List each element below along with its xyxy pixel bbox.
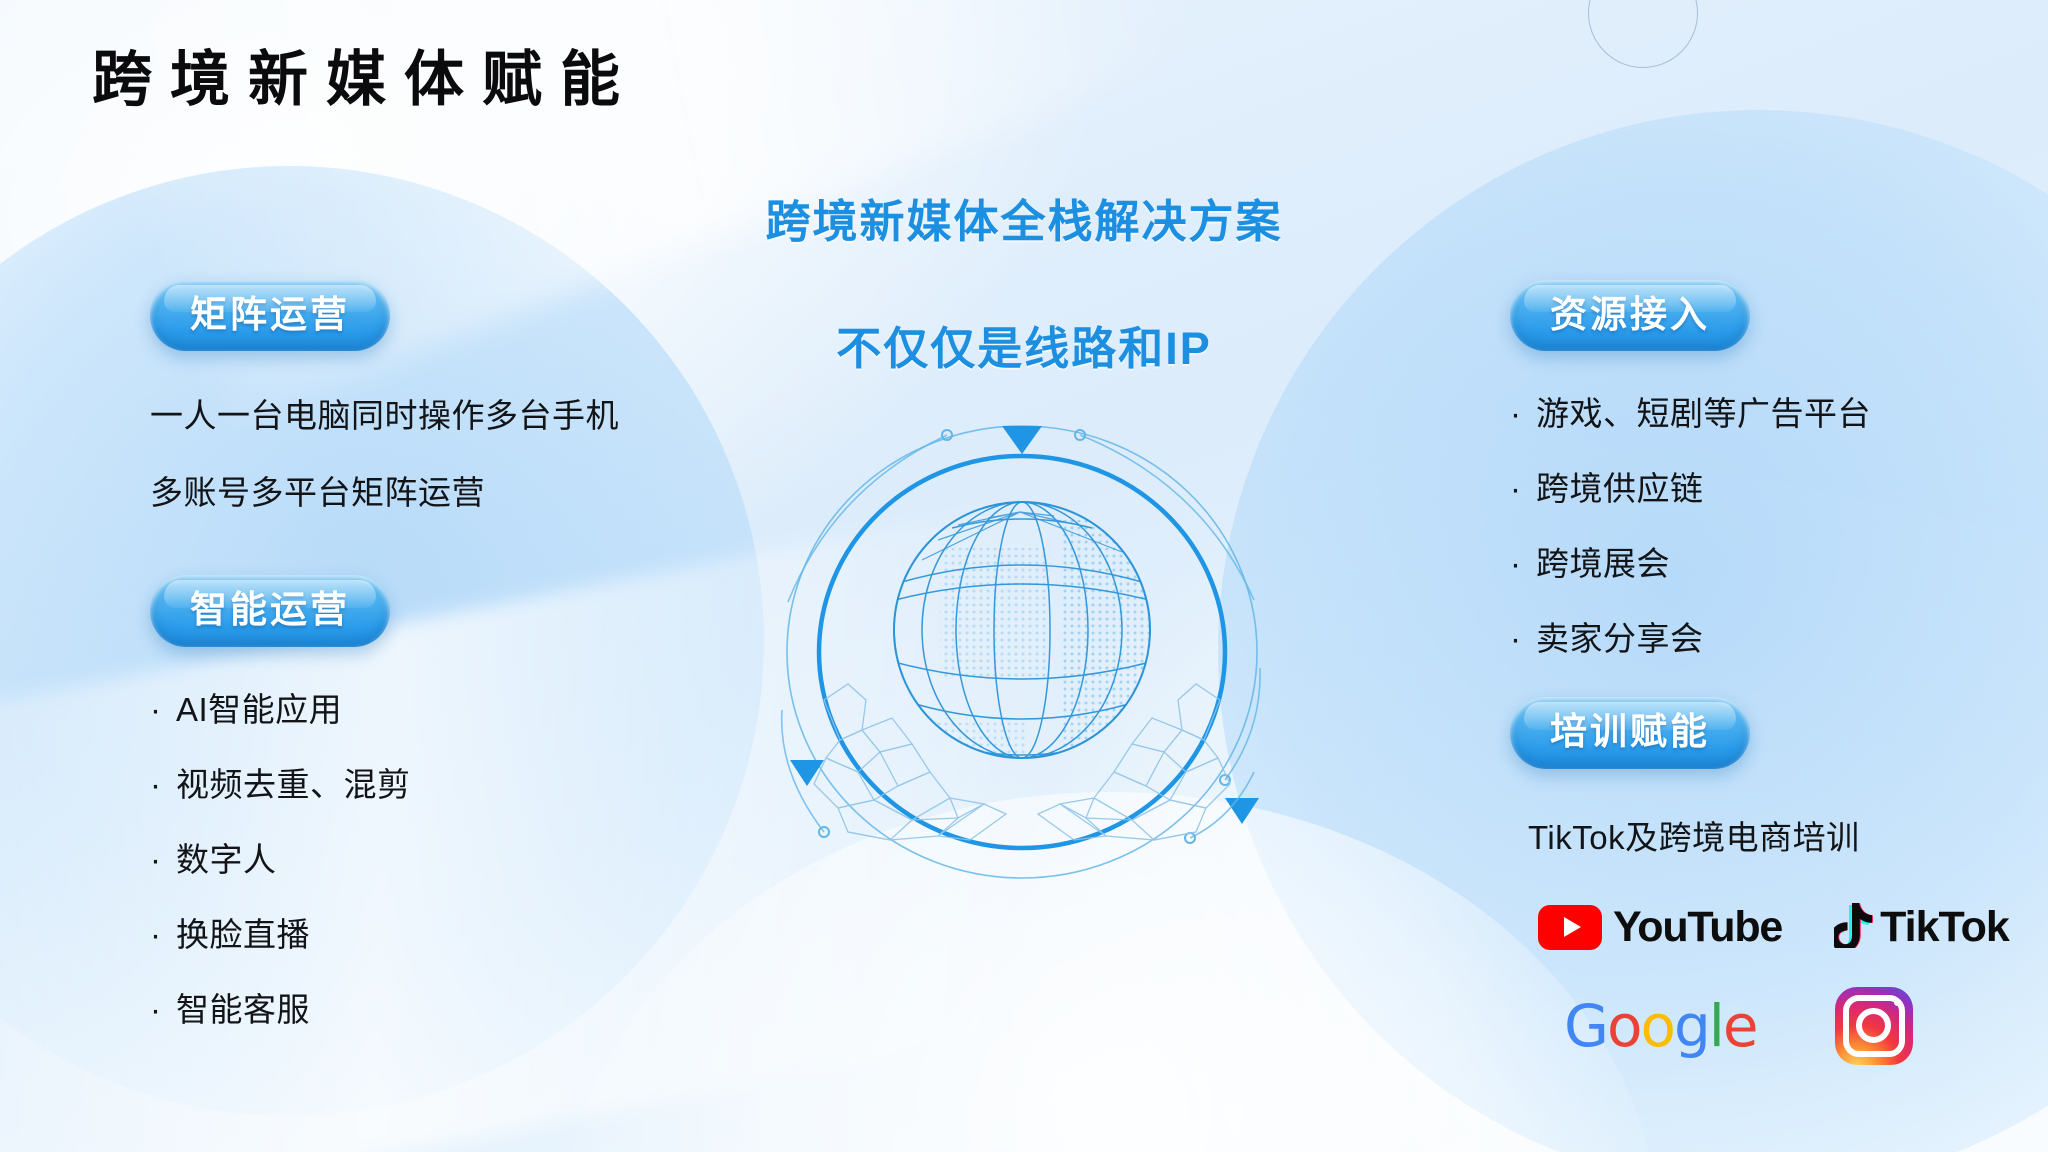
decorative-circle-outline-icon bbox=[1588, 0, 1698, 68]
training-description: TikTok及跨境电商培训 bbox=[1528, 821, 2030, 854]
google-letter: G bbox=[1564, 992, 1607, 1060]
smart-operations-bullet-list: ·AI智能应用 ·视频去重、混剪 ·数字人 ·换脸直播 ·智能客服 bbox=[150, 693, 770, 1026]
list-item: ·AI智能应用 bbox=[150, 693, 770, 726]
list-item-label: AI智能应用 bbox=[176, 691, 342, 728]
right-column: 资源接入 ·游戏、短剧等广告平台 ·跨境供应链 ·跨境展会 ·卖家分享会 培训赋… bbox=[1510, 280, 2030, 1065]
section-smart-operations: 智能运营 ·AI智能应用 ·视频去重、混剪 ·数字人 ·换脸直播 ·智能客服 bbox=[150, 575, 770, 1025]
pill-label-matrix-operations[interactable]: 矩阵运营 bbox=[150, 280, 390, 351]
tiktok-logo[interactable]: TikTok bbox=[1834, 902, 2009, 953]
list-item: ·卖家分享会 bbox=[1510, 622, 2030, 655]
bullet-marker-icon: · bbox=[150, 768, 176, 801]
globe-in-hands-illustration bbox=[762, 400, 1282, 900]
page-title: 跨境新媒体赋能 bbox=[92, 50, 638, 110]
instagram-camera-icon bbox=[1843, 995, 1905, 1057]
section-matrix-operations: 矩阵运营 一人一台电脑同时操作多台手机 多账号多平台矩阵运营 bbox=[150, 280, 770, 509]
list-item-label: 跨境展会 bbox=[1536, 545, 1670, 582]
center-subtitle-primary: 跨境新媒体全栈解决方案 bbox=[0, 185, 2048, 250]
list-item-label: 智能客服 bbox=[176, 991, 310, 1028]
list-item-label: 游戏、短剧等广告平台 bbox=[1536, 395, 1871, 432]
slide-root: 跨境新媒体赋能 跨境新媒体全栈解决方案 不仅仅是线路和IP bbox=[0, 0, 2048, 1152]
list-item: ·智能客服 bbox=[150, 993, 770, 1026]
list-item: ·换脸直播 bbox=[150, 918, 770, 951]
tiktok-note-icon bbox=[1834, 902, 1874, 953]
youtube-play-icon bbox=[1538, 905, 1602, 950]
bullet-marker-icon: · bbox=[1510, 622, 1536, 655]
youtube-logo-label: YouTube bbox=[1613, 903, 1782, 952]
list-item-label: 换脸直播 bbox=[176, 916, 310, 953]
bullet-marker-icon: · bbox=[150, 693, 176, 726]
matrix-paragraph-2: 多账号多平台矩阵运营 bbox=[150, 476, 770, 509]
platform-logo-row-2: Google bbox=[1564, 987, 2030, 1065]
list-item: ·数字人 bbox=[150, 843, 770, 876]
section-resource-access: 资源接入 ·游戏、短剧等广告平台 ·跨境供应链 ·跨境展会 ·卖家分享会 bbox=[1510, 280, 2030, 655]
bullet-marker-icon: · bbox=[150, 918, 176, 951]
google-letter: e bbox=[1723, 992, 1757, 1060]
bullet-marker-icon: · bbox=[1510, 397, 1536, 430]
pill-label-smart-operations[interactable]: 智能运营 bbox=[150, 575, 390, 646]
google-letter: o bbox=[1640, 992, 1674, 1060]
list-item: ·跨境展会 bbox=[1510, 547, 2030, 580]
resource-access-bullet-list: ·游戏、短剧等广告平台 ·跨境供应链 ·跨境展会 ·卖家分享会 bbox=[1510, 397, 2030, 655]
bullet-marker-icon: · bbox=[1510, 472, 1536, 505]
instagram-logo[interactable] bbox=[1835, 987, 1913, 1065]
list-item-label: 卖家分享会 bbox=[1536, 620, 1704, 657]
list-item: ·游戏、短剧等广告平台 bbox=[1510, 397, 2030, 430]
pill-label-resource-access[interactable]: 资源接入 bbox=[1510, 280, 1750, 351]
google-letter: o bbox=[1607, 992, 1641, 1060]
matrix-paragraph-1: 一人一台电脑同时操作多台手机 bbox=[150, 399, 770, 432]
list-item: ·视频去重、混剪 bbox=[150, 768, 770, 801]
list-item-label: 数字人 bbox=[176, 841, 277, 878]
google-letter: g bbox=[1674, 992, 1709, 1060]
pill-label-training-empowerment[interactable]: 培训赋能 bbox=[1510, 697, 1750, 768]
youtube-logo[interactable]: YouTube bbox=[1538, 903, 1782, 952]
section-training-empowerment: 培训赋能 TikTok及跨境电商培训 bbox=[1510, 697, 2030, 853]
list-item-label: 跨境供应链 bbox=[1536, 470, 1704, 507]
list-item-label: 视频去重、混剪 bbox=[176, 766, 411, 803]
left-column: 矩阵运营 一人一台电脑同时操作多台手机 多账号多平台矩阵运营 智能运营 ·AI智… bbox=[150, 280, 770, 1068]
platform-logo-row-1: YouTube TikTok bbox=[1538, 902, 2030, 953]
bullet-marker-icon: · bbox=[150, 993, 176, 1026]
google-letter: l bbox=[1709, 992, 1723, 1060]
bullet-marker-icon: · bbox=[150, 843, 176, 876]
list-item: ·跨境供应链 bbox=[1510, 472, 2030, 505]
tiktok-logo-label: TikTok bbox=[1880, 903, 2009, 952]
bullet-marker-icon: · bbox=[1510, 547, 1536, 580]
google-logo[interactable]: Google bbox=[1564, 992, 1757, 1060]
